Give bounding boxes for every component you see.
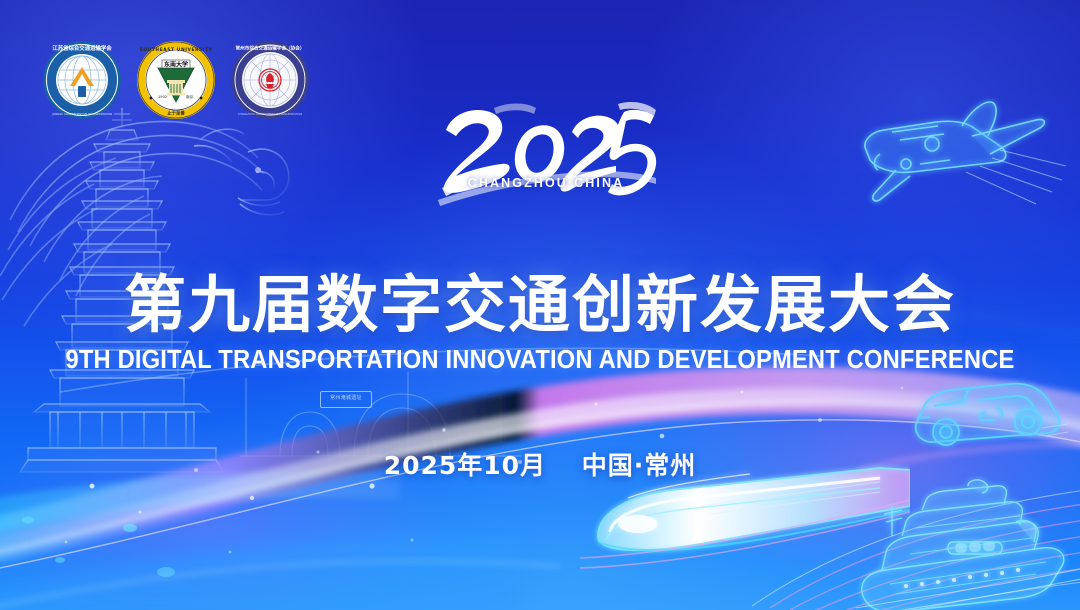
svg-text:止于至善: 止于至善 bbox=[167, 110, 185, 117]
ship-icon bbox=[856, 476, 1080, 610]
brush-subtitle: CHANGZHOU·CHINA bbox=[432, 176, 660, 190]
logo-changzhou-comprehensive-transportation-association: 常州市综合交通运输学会（协会） CHANGZHOU COMPREHENSIVE … bbox=[230, 40, 310, 120]
svg-text:JIANGSU COMPREHENSIVE TRANSPOR: JIANGSU COMPREHENSIVE TRANSPORTATION bbox=[51, 112, 112, 116]
svg-text:SOUTHEAST UNIVERSITY: SOUTHEAST UNIVERSITY bbox=[140, 47, 213, 53]
svg-text:常州市综合交通运输学会（协会）: 常州市综合交通运输学会（协会） bbox=[236, 45, 305, 52]
logo-jiangsu-comprehensive-transportation-society: 江苏省综合交通运输学会 JIANGSU COMPREHENSIVE TRANSP… bbox=[42, 40, 122, 120]
logo-row: 江苏省综合交通运输学会 JIANGSU COMPREHENSIVE TRANSP… bbox=[42, 40, 310, 120]
title-block: 第九届数字交通创新发展大会 9TH DIGITAL TRANSPORTATION… bbox=[0, 272, 1080, 375]
brush-2025-glyphs bbox=[432, 96, 660, 216]
event-date: 2025年10月 bbox=[384, 451, 546, 480]
svg-text:东南大学: 东南大学 bbox=[164, 61, 188, 69]
svg-text:CHANGZHOU COMPREHENSIVE TRANSP: CHANGZHOU COMPREHENSIVE TRANSPORTATION bbox=[238, 112, 302, 116]
conference-poster: 常州淹城遗址 bbox=[0, 0, 1080, 610]
event-location: 中国·常州 bbox=[582, 451, 697, 480]
logo-southeast-university: 东南大学 SOUTHEAST UNIVERSITY 止于至善 1902 南京 bbox=[136, 40, 216, 120]
station-sign: 常州淹城遗址 bbox=[320, 391, 372, 408]
page-title-cn: 第九届数字交通创新发展大会 bbox=[0, 272, 1080, 338]
page-title-en: 9TH DIGITAL TRANSPORTATION INNOVATION AN… bbox=[38, 346, 1042, 375]
event-meta: 2025年10月 中国·常州 bbox=[0, 446, 1080, 482]
svg-text:江苏省综合交通运输学会: 江苏省综合交通运输学会 bbox=[52, 44, 112, 52]
airplane-icon bbox=[840, 92, 1070, 222]
brush-year-mark: CHANGZHOU·CHINA bbox=[432, 96, 660, 216]
svg-text:1902: 1902 bbox=[158, 95, 167, 99]
svg-text:南京: 南京 bbox=[186, 94, 194, 99]
